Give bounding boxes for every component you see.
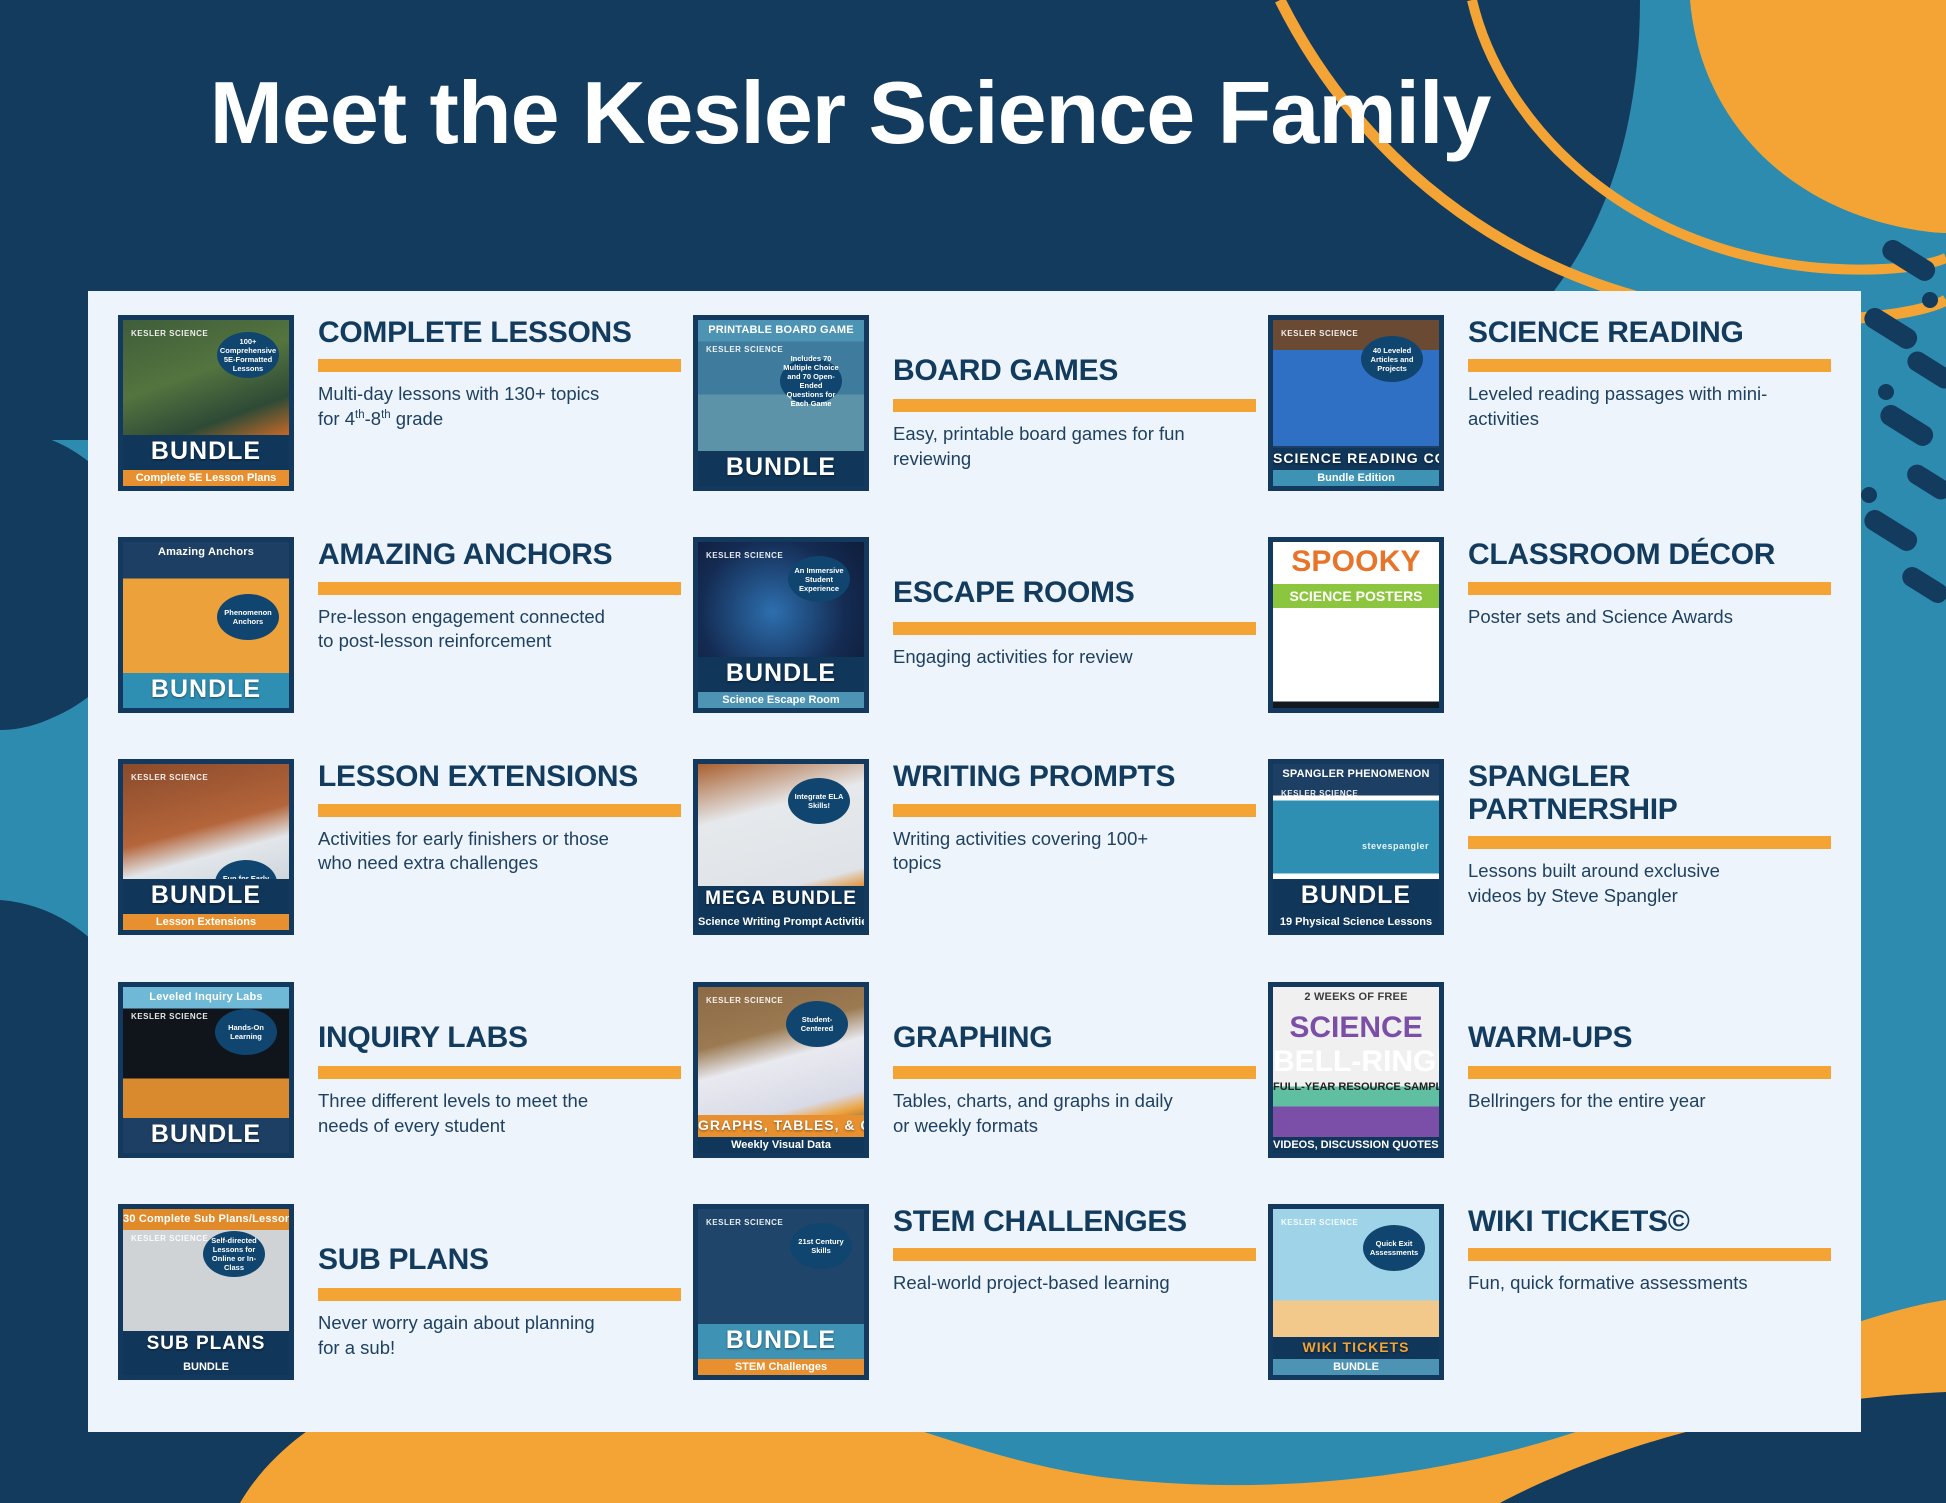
poster-subtitle: SCIENCE POSTERS [1273,584,1439,608]
product-thumbnail[interactable]: 2 WEEKS OF FREESCIENCEBELL-RINGERSFULL-Y… [1268,982,1444,1158]
product-description: Bellringers for the entire year [1468,1089,1768,1114]
accent-rule [1468,1066,1831,1079]
thumbnail-bottom-label: BUNDLE [1273,879,1439,914]
product-item[interactable]: KESLER SCIENCE40 Leveled Articles and Pr… [1262,307,1837,529]
product-description: Easy, printable board games for fun revi… [893,422,1193,471]
product-text: COMPLETE LESSONSMulti-day lessons with 1… [294,311,681,432]
product-item[interactable]: Amazing AnchorsPhenomenon AnchorsBUNDLEA… [112,529,687,751]
thumbnail-bottom-sub: VIDEOS, DISCUSSION QUOTES & MORE! [1273,1137,1439,1153]
kesler-science-logo: KESLER SCIENCE [131,774,208,782]
product-description: Pre-lesson engagement connected to post-… [318,605,618,654]
thumbnail-text-line: SCIENCE [1273,1011,1439,1045]
accent-rule [318,582,681,595]
product-heading: CLASSROOM DÉCOR [1468,539,1831,571]
product-text: WIKI TICKETS©Fun, quick formative assess… [1444,1200,1831,1296]
kesler-science-logo: KESLER SCIENCE [131,1235,208,1243]
thumbnail-bottom-sub: Weekly Visual Data [698,1137,864,1153]
thumbnail-badge: Student-Centered [786,1001,848,1047]
product-item[interactable]: 2 WEEKS OF FREESCIENCEBELL-RINGERSFULL-Y… [1262,974,1837,1196]
kesler-science-logo: KESLER SCIENCE [706,1219,783,1227]
accent-rule [893,399,1256,412]
product-heading: COMPLETE LESSONS [318,317,681,349]
product-text: ESCAPE ROOMSEngaging activities for revi… [869,533,1256,669]
accent-rule [318,1288,681,1301]
product-text: LESSON EXTENSIONSActivities for early fi… [294,755,681,876]
kesler-science-logo: KESLER SCIENCE [706,552,783,560]
thumbnail-bottom-label: WIKI TICKETS [1273,1337,1439,1359]
thumbnail-top-ribbon: SPOOKY [1273,542,1439,582]
accent-rule [893,1066,1256,1079]
thumbnail-bottom-sub: Science Escape Room [698,692,864,708]
thumbnail-badge: 40 Leveled Articles and Projects [1361,336,1423,382]
products-panel: KESLER SCIENCE100+ Comprehensive 5E-Form… [88,291,1861,1432]
thumbnail-badge: Quick Exit Assessments [1363,1225,1425,1271]
kesler-science-logo: KESLER SCIENCE [1281,1219,1358,1227]
product-description: Poster sets and Science Awards [1468,605,1768,630]
thumbnail-top-ribbon: PRINTABLE BOARD GAME [698,320,864,341]
product-item[interactable]: KESLER SCIENCEPRINTABLE BOARD GAMEInclud… [687,307,1262,529]
accent-rule [318,359,681,372]
thumbnail-bottom-label: BUNDLE [698,657,864,692]
thumbnail-bottom-label: SCIENCE READING COMPREHENSION [1273,448,1439,470]
product-heading: WIKI TICKETS© [1468,1206,1831,1238]
product-item[interactable]: SPOOKYSCIENCE POSTERSCLASSROOM DÉCORPost… [1262,529,1837,751]
products-grid: KESLER SCIENCE100+ Comprehensive 5E-Form… [88,291,1861,1432]
product-description: Tables, charts, and graphs in daily or w… [893,1089,1193,1138]
product-item[interactable]: Integrate ELA Skills!Science Writing Pro… [687,751,1262,973]
thumbnail-bottom-sub: Bundle Edition [1273,470,1439,486]
product-item[interactable]: KESLER SCIENCESPANGLER PHENOMENON19 Phys… [1262,751,1837,973]
thumbnail-bottom-sub: Science Writing Prompt Activities [698,914,864,930]
product-item[interactable]: KESLER SCIENCEFun for Early Finishers!Le… [112,751,687,973]
product-heading: SUB PLANS [318,1244,681,1276]
thumbnail-bottom-label: BUNDLE [123,435,289,470]
product-heading: BOARD GAMES [893,355,1256,387]
product-thumbnail[interactable]: KESLER SCIENCEPRINTABLE BOARD GAMEInclud… [693,315,869,491]
product-item[interactable]: KESLER SCIENCEStudent-CenteredWeekly Vis… [687,974,1262,1196]
product-item[interactable]: KESLER SCIENCE21st Century SkillsSTEM Ch… [687,1196,1262,1418]
thumbnail-badge: Self-directed Lessons for Online or In-C… [203,1231,265,1277]
kesler-science-logo: KESLER SCIENCE [706,997,783,1005]
thumbnail-badge: An Immersive Student Experience [788,556,850,602]
product-text: GRAPHINGTables, charts, and graphs in da… [869,978,1256,1139]
thumbnail-bottom-label: BUNDLE [698,451,864,486]
kesler-science-logo: KESLER SCIENCE [1281,790,1358,798]
product-description: Lessons built around exclusive videos by… [1468,859,1768,908]
product-description: Fun, quick formative assessments [1468,1271,1768,1296]
thumbnail-text-line: FULL-YEAR RESOURCE SAMPLE [1273,1079,1439,1095]
accent-rule [893,804,1256,817]
thumbnail-top-ribbon: 2 WEEKS OF FREE [1273,987,1439,1008]
thumbnail-bottom-label: BUNDLE [123,1118,289,1153]
product-thumbnail[interactable]: KESLER SCIENCE21st Century SkillsSTEM Ch… [693,1204,869,1380]
kesler-science-logo: KESLER SCIENCE [131,1013,208,1021]
product-thumbnail[interactable]: KESLER SCIENCE30 Complete Sub Plans/Less… [118,1204,294,1380]
product-heading: STEM CHALLENGES [893,1206,1256,1238]
thumbnail-badge: Hands-On Learning [215,1009,277,1055]
kesler-science-logo: KESLER SCIENCE [706,346,783,354]
product-description: Activities for early finishers or those … [318,827,618,876]
product-text: SPANGLER PARTNERSHIPLessons built around… [1444,755,1831,908]
product-heading: SCIENCE READING [1468,317,1831,349]
product-description: Never worry again about planning for a s… [318,1311,618,1360]
product-item[interactable]: KESLER SCIENCE30 Complete Sub Plans/Less… [112,1196,687,1418]
product-description: Real-world project-based learning [893,1271,1193,1296]
product-thumbnail[interactable]: KESLER SCIENCE40 Leveled Articles and Pr… [1268,315,1444,491]
thumbnail-bottom-sub: Lesson Extensions [123,914,289,930]
accent-rule [1468,359,1831,372]
thumbnail-badge: 100+ Comprehensive 5E-Formatted Lessons [217,332,279,378]
product-text: CLASSROOM DÉCORPoster sets and Science A… [1444,533,1831,629]
page-title: Meet the Kesler Science Family [0,62,1700,164]
product-thumbnail[interactable]: KESLER SCIENCE100+ Comprehensive 5E-Form… [118,315,294,491]
thumbnail-top-ribbon: 30 Complete Sub Plans/Lessons [123,1209,289,1230]
product-heading: WRITING PROMPTS [893,761,1256,793]
thumbnail-text-line: BELL-RINGERS [1273,1045,1439,1079]
product-text: AMAZING ANCHORSPre-lesson engagement con… [294,533,681,654]
product-text: BOARD GAMESEasy, printable board games f… [869,311,1256,472]
product-thumbnail[interactable]: SPOOKYSCIENCE POSTERS [1268,537,1444,713]
accent-rule [893,1248,1256,1261]
product-thumbnail[interactable]: KESLER SCIENCEAn Immersive Student Exper… [693,537,869,713]
thumbnail-badge: 21st Century Skills [790,1223,852,1269]
product-description: Leveled reading passages with mini-activ… [1468,382,1768,431]
thumbnail-bottom-sub: BUNDLE [123,1359,289,1375]
product-heading: AMAZING ANCHORS [318,539,681,571]
thumbnail-bottom-label: BUNDLE [123,673,289,708]
thumbnail-bottom-label: MEGA BUNDLE [698,886,864,914]
product-heading: LESSON EXTENSIONS [318,761,681,793]
product-heading: GRAPHING [893,1022,1256,1054]
kesler-science-logo: KESLER SCIENCE [1281,330,1358,338]
product-description: Writing activities covering 100+ topics [893,827,1193,876]
thumbnail-bottom-label: GRAPHS, TABLES, & CHARTS [698,1115,864,1137]
thumbnail-top-ribbon: Leveled Inquiry Labs [123,987,289,1008]
thumbnail-bottom-sub: Complete 5E Lesson Plans [123,470,289,486]
product-text: INQUIRY LABSThree different levels to me… [294,978,681,1139]
product-description: Engaging activities for review [893,645,1193,670]
product-heading: WARM-UPS [1468,1022,1831,1054]
product-thumbnail[interactable]: KESLER SCIENCESPANGLER PHENOMENON19 Phys… [1268,759,1444,935]
product-item[interactable]: KESLER SCIENCELeveled Inquiry LabsHands-… [112,974,687,1196]
thumbnail-top-ribbon: SPANGLER PHENOMENON [1273,764,1439,785]
accent-rule [893,622,1256,635]
thumbnail-bottom-label: SUB PLANS [123,1331,289,1359]
thumbnail-bottom-label: BUNDLE [123,879,289,914]
kesler-science-logo: KESLER SCIENCE [131,330,208,338]
product-thumbnail[interactable]: Integrate ELA Skills!Science Writing Pro… [693,759,869,935]
accent-rule [318,1066,681,1079]
product-heading: SPANGLER PARTNERSHIP [1468,761,1831,826]
accent-rule [1468,582,1831,595]
product-thumbnail[interactable]: KESLER SCIENCEStudent-CenteredWeekly Vis… [693,982,869,1158]
product-text: STEM CHALLENGESReal-world project-based … [869,1200,1256,1296]
product-item[interactable]: KESLER SCIENCE100+ Comprehensive 5E-Form… [112,307,687,529]
spangler-partner-logo: stevespangler [1362,842,1429,850]
product-item[interactable]: KESLER SCIENCEAn Immersive Student Exper… [687,529,1262,751]
thumbnail-bottom-sub: STEM Challenges [698,1359,864,1375]
thumbnail-bottom-label: BUNDLE [698,1324,864,1359]
accent-rule [1468,1248,1831,1261]
accent-rule [318,804,681,817]
accent-rule [1468,836,1831,849]
product-text: SUB PLANSNever worry again about plannin… [294,1200,681,1361]
thumbnail-bottom-sub: 19 Physical Science Lessons [1273,914,1439,930]
product-heading: INQUIRY LABS [318,1022,681,1054]
thumbnail-bottom-sub: BUNDLE [1273,1359,1439,1375]
product-item[interactable]: KESLER SCIENCEQuick Exit AssessmentsBUND… [1262,1196,1837,1418]
product-text: SCIENCE READINGLeveled reading passages … [1444,311,1831,432]
thumbnail-badge: Phenomenon Anchors [217,594,279,640]
thumbnail-top-ribbon: Amazing Anchors [123,542,289,563]
product-text: WARM-UPSBellringers for the entire year [1444,978,1831,1114]
product-thumbnail[interactable]: Amazing AnchorsPhenomenon AnchorsBUNDLE [118,537,294,713]
thumbnail-badge: Includes 70 Multiple Choice and 70 Open-… [780,358,842,404]
product-thumbnail[interactable]: KESLER SCIENCELeveled Inquiry LabsHands-… [118,982,294,1158]
product-text: WRITING PROMPTSWriting activities coveri… [869,755,1256,876]
product-thumbnail[interactable]: KESLER SCIENCEFun for Early Finishers!Le… [118,759,294,935]
product-heading: ESCAPE ROOMS [893,577,1256,609]
product-thumbnail[interactable]: KESLER SCIENCEQuick Exit AssessmentsBUND… [1268,1204,1444,1380]
product-description: Three different levels to meet the needs… [318,1089,618,1138]
product-description: Multi-day lessons with 130+ topics for 4… [318,382,618,431]
